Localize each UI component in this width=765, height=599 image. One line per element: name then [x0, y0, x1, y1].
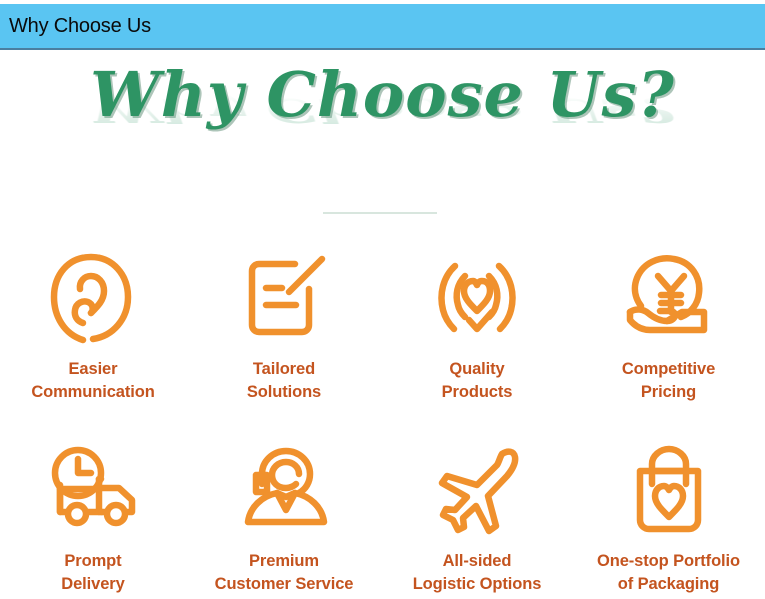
feature-card-one-stop-portfolio-of-packaging[interactable]: One-stop Portfolio of Packaging	[572, 418, 765, 598]
airplane-icon	[430, 440, 524, 540]
feature-card-quality-products[interactable]: Quality Products	[382, 226, 572, 418]
feature-label: Prompt Delivery	[61, 550, 124, 597]
feature-label: Competitive Pricing	[622, 358, 715, 405]
page-content: Why Choose Us? Why Choose Us?	[0, 50, 765, 597]
feature-card-easier-communication[interactable]: Easier Communication	[0, 226, 186, 418]
hero-heading-wrap: Why Choose Us? Why Choose Us?	[90, 64, 675, 126]
app-window: Why Choose Us Why Choose Us? Why Choose …	[0, 0, 765, 599]
feature-label: Tailored Solutions	[247, 358, 321, 405]
window-titlebar: Why Choose Us	[0, 4, 765, 50]
feature-row: Prompt Delivery	[0, 418, 765, 598]
ear-in-circle-icon	[47, 248, 139, 348]
feature-label-line-1: Premium	[249, 552, 319, 570]
feature-row: Easier Communication Tailor	[0, 226, 765, 418]
feature-grid: Easier Communication Tailor	[0, 226, 765, 598]
feature-label-line-2: Logistic Options	[413, 573, 542, 596]
hero-divider	[323, 212, 437, 214]
feature-label-line-2: Pricing	[622, 381, 715, 404]
feature-label-line-2: of Packaging	[597, 573, 740, 596]
feature-label-line-1: Prompt	[64, 552, 121, 570]
hero-section: Why Choose Us? Why Choose Us?	[0, 50, 765, 162]
feature-label-line-2: Products	[442, 381, 513, 404]
hand-yen-coin-icon	[620, 248, 718, 348]
delivery-truck-clock-icon	[44, 440, 142, 540]
feature-label: Easier Communication	[31, 358, 154, 405]
feature-label-line-1: Competitive	[622, 360, 715, 378]
feature-label-line-1: All-sided	[443, 552, 512, 570]
feature-card-competitive-pricing[interactable]: Competitive Pricing	[572, 226, 765, 418]
feature-label-line-2: Solutions	[247, 381, 321, 404]
feature-label-line-1: Easier	[69, 360, 118, 378]
feature-label-line-2: Customer Service	[215, 573, 354, 596]
feature-label-line-1: Tailored	[253, 360, 315, 378]
feature-label: Quality Products	[442, 358, 513, 405]
feature-card-tailored-solutions[interactable]: Tailored Solutions	[186, 226, 382, 418]
feature-label: All-sided Logistic Options	[413, 550, 542, 597]
feature-label-line-1: One-stop Portfolio	[597, 552, 740, 570]
shopping-bag-heart-icon	[622, 440, 716, 540]
feature-card-prompt-delivery[interactable]: Prompt Delivery	[0, 418, 186, 598]
window-title: Why Choose Us	[9, 16, 151, 36]
feature-card-premium-customer-service[interactable]: Premium Customer Service	[186, 418, 382, 598]
heart-check-signal-icon	[429, 248, 525, 348]
headset-agent-icon	[236, 440, 332, 540]
feature-card-all-sided-logistic-options[interactable]: All-sided Logistic Options	[382, 418, 572, 598]
feature-label-line-1: Quality	[449, 360, 504, 378]
document-pencil-icon	[238, 248, 330, 348]
hero-heading: Why Choose Us?	[90, 64, 675, 126]
feature-label: One-stop Portfolio of Packaging	[597, 550, 740, 597]
feature-label: Premium Customer Service	[215, 550, 354, 597]
feature-label-line-2: Communication	[31, 381, 154, 404]
feature-label-line-2: Delivery	[61, 573, 124, 596]
